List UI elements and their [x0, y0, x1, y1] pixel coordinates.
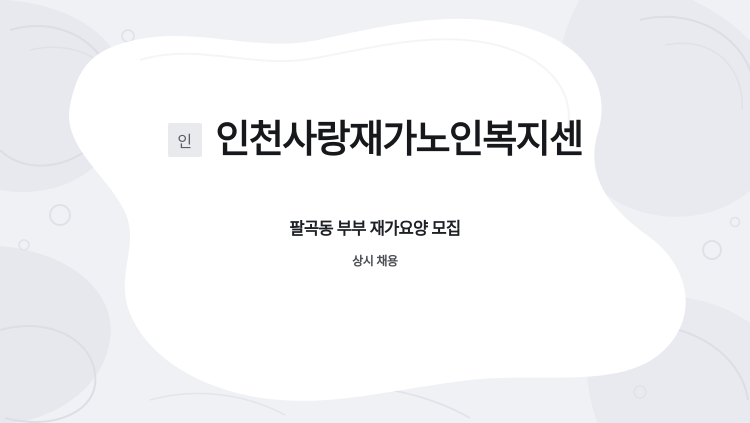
company-title: 인천사랑재가노인복지센 [216, 120, 583, 162]
company-initial-badge: 인 [168, 123, 202, 157]
job-subtitle: 팔곡동 부부 재가요양 모집 [290, 215, 461, 239]
employment-type: 상시 채용 [352, 252, 398, 269]
card-content: 인 인천사랑재가노인복지센 팔곡동 부부 재가요양 모집 상시 채용 [0, 0, 750, 423]
job-posting-card: 인 인천사랑재가노인복지센 팔곡동 부부 재가요양 모집 상시 채용 [0, 0, 750, 423]
company-initial-text: 인 [177, 128, 191, 152]
title-row: 인 인천사랑재가노인복지센 [168, 120, 583, 162]
